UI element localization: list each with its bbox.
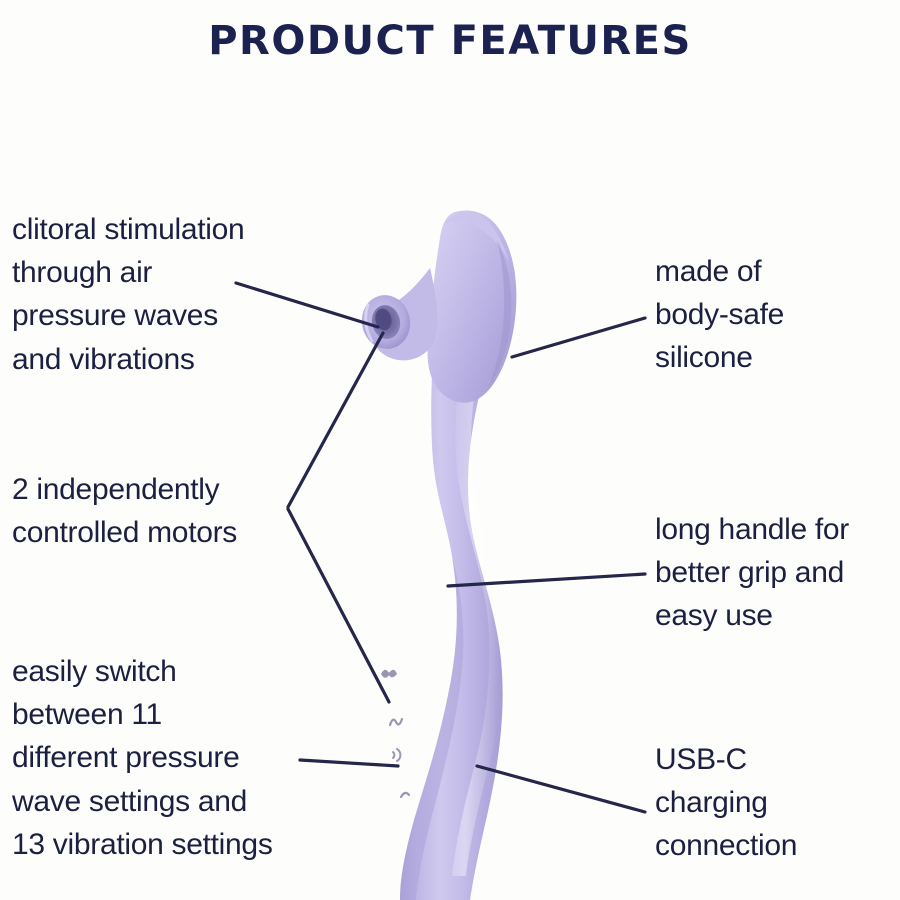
feature-callout-usb: USB-C charging connection (655, 738, 797, 868)
feature-callout-handle: long handle for better grip and easy use (655, 508, 849, 638)
feature-callout-settings: easily switch between 11 different press… (12, 650, 273, 866)
control-buttons[interactable] (381, 670, 409, 797)
brand-logo-icon (381, 670, 397, 678)
air-wave-icon (393, 749, 400, 761)
product-features-infographic: PRODUCT FEATURES clitoral stimulation th… (0, 0, 900, 900)
page-title: PRODUCT FEATURES (0, 18, 900, 64)
vibration-icon (390, 719, 402, 725)
feature-callout-clitoral-stimulation: clitoral stimulation through air pressur… (12, 208, 244, 381)
feature-callout-silicone: made of body-safe silicone (655, 250, 784, 380)
feature-callout-motors: 2 independently controlled motors (12, 468, 237, 554)
power-icon (401, 793, 409, 797)
